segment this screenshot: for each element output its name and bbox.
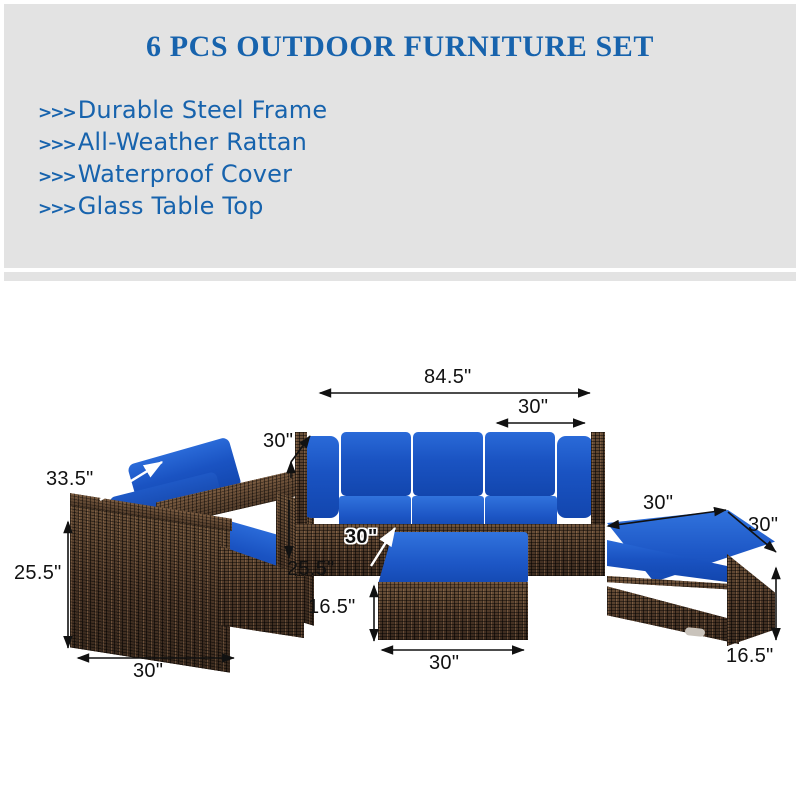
dim-right-ottoman-width: 30" — [643, 492, 673, 515]
sofa-base-top-edge — [295, 524, 605, 531]
feature-item-0: >>> Durable Steel Frame — [38, 98, 538, 130]
dim-armchair-height: 25.5" — [14, 562, 62, 585]
furniture-diagram: 33.5" 25.5" 30" 84.5" 30" 30" 25.5" 30" … — [0, 300, 800, 740]
dim-center-ottoman-height: 16.5" — [308, 596, 356, 619]
dim-right-ottoman-depth: 30" — [748, 514, 778, 537]
feature-label: Glass Table Top — [78, 194, 264, 218]
dim-center-ottoman-depth: 30" — [345, 526, 378, 549]
chevron-marker-icon: >>> — [38, 105, 75, 122]
feature-item-1: >>> All-Weather Rattan — [38, 130, 538, 162]
dim-sofa-total-width: 84.5" — [424, 366, 472, 389]
header-divider — [4, 272, 796, 281]
sofa-left-bolster — [303, 436, 339, 518]
feature-label: Durable Steel Frame — [78, 98, 328, 122]
center-ottoman-cushion — [378, 532, 528, 584]
dim-sofa-depth: 30" — [263, 430, 293, 453]
armchair-front-panel — [70, 501, 230, 672]
dim-right-ottoman-height: 16.5" — [726, 645, 774, 668]
dim-armchair-depth: 33.5" — [46, 468, 94, 491]
feature-item-2: >>> Waterproof Cover — [38, 162, 538, 194]
sofa-right-bolster — [557, 436, 593, 518]
sofa-back-cushion-1 — [341, 432, 411, 496]
dim-center-ottoman-width: 30" — [429, 652, 459, 675]
header-panel: 6 PCS OUTDOOR FURNITURE SET >>> Durable … — [4, 4, 796, 268]
ottoman-handle-icon — [685, 627, 706, 637]
page-title: 6 PCS OUTDOOR FURNITURE SET — [4, 30, 796, 64]
feature-item-3: >>> Glass Table Top — [38, 194, 538, 226]
center-ottoman — [378, 532, 528, 642]
sofa-back-cushion-3 — [485, 432, 555, 496]
right-ottoman-front — [607, 584, 739, 644]
dim-sofa-height: 25.5" — [287, 558, 335, 581]
feature-label: Waterproof Cover — [78, 162, 292, 186]
center-ottoman-front — [378, 589, 528, 640]
feature-label: All-Weather Rattan — [78, 130, 307, 154]
right-ottoman-side — [727, 554, 775, 646]
chevron-marker-icon: >>> — [38, 137, 75, 154]
chevron-marker-icon: >>> — [38, 201, 75, 218]
chevron-marker-icon: >>> — [38, 169, 75, 186]
dim-armchair-width: 30" — [133, 660, 163, 683]
armchair — [60, 450, 310, 660]
feature-list: >>> Durable Steel Frame >>> All-Weather … — [38, 98, 538, 226]
sofa-back-cushion-2 — [413, 432, 483, 496]
dim-sofa-section-width: 30" — [518, 396, 548, 419]
